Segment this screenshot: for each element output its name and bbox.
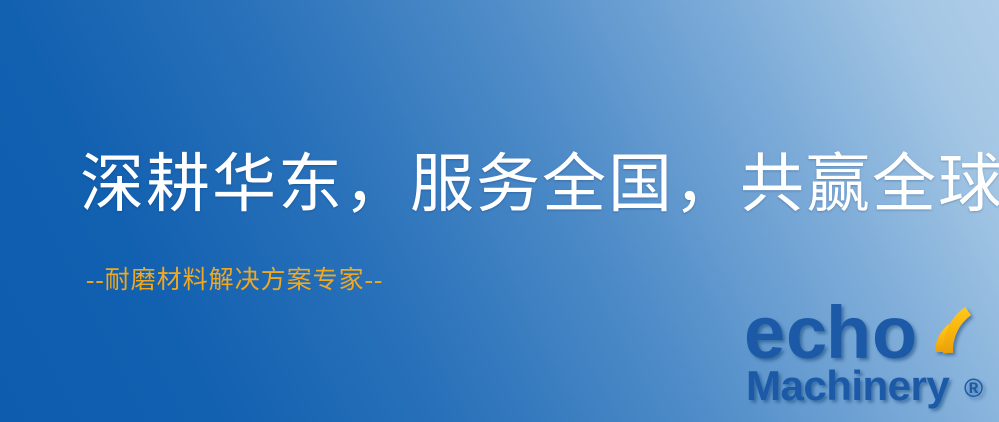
banner-subtitle: --耐磨材料解决方案专家-- (86, 268, 383, 293)
echo-machinery-logo[interactable]: e c h o Machinery ® (742, 296, 999, 422)
signal-arc-outer (948, 311, 968, 353)
logo-trademark-symbol: ® (964, 373, 983, 403)
logo-machinery-text: Machinery (746, 362, 950, 409)
signal-waves-icon (940, 311, 968, 353)
promo-banner: 深耕华东，服务全国，共赢全球 --耐磨材料解决方案专家-- (0, 0, 999, 422)
banner-headline: 深耕华东，服务全国，共赢全球 (80, 153, 999, 217)
